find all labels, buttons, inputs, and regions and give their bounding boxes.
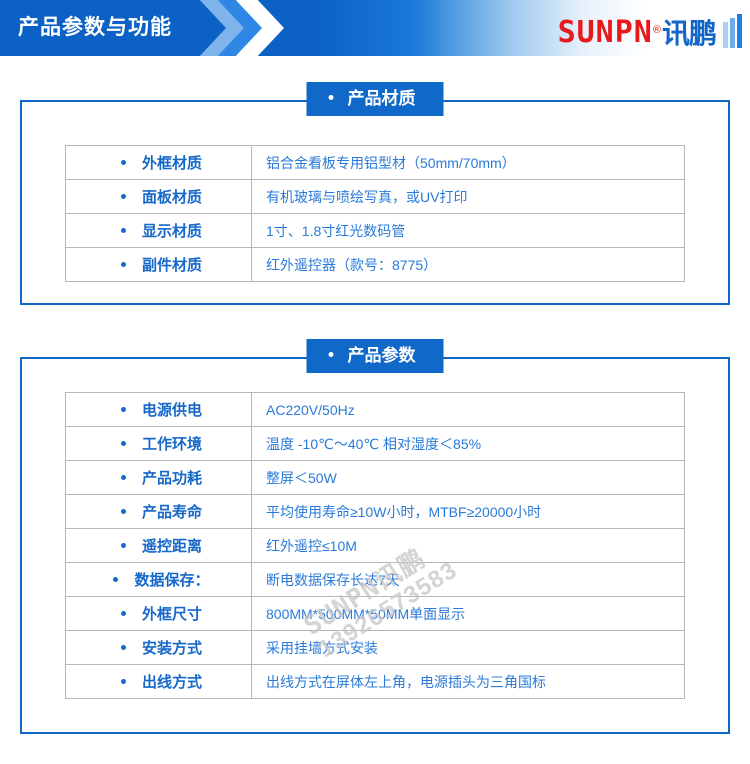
bullet-dot-icon <box>121 645 126 650</box>
spec-label-cell: 出线方式 <box>66 665 252 699</box>
section-badge-material: 产品材质 <box>307 82 444 116</box>
section-badge-material-label: 产品材质 <box>348 89 416 108</box>
chevron-right-icon <box>196 0 326 56</box>
table-row: 显示材质 1寸、1.8寸红光数码管 <box>66 214 685 248</box>
spec-label-cell: 面板材质 <box>66 180 252 214</box>
spec-table-parameters: 电源供电 AC220V/50Hz 工作环境 温度 -10℃～40℃ 相对湿度＜8… <box>65 392 685 699</box>
spec-label-cell: 电源供电 <box>66 393 252 427</box>
spec-value-cell: 整屏＜50W <box>252 461 685 495</box>
table-row: 工作环境 温度 -10℃～40℃ 相对湿度＜85% <box>66 427 685 461</box>
bullet-dot-icon <box>121 475 126 480</box>
table-row: 出线方式 出线方式在屏体左上角，电源插头为三角国标 <box>66 665 685 699</box>
table-row: 面板材质 有机玻璃与喷绘写真，或UV打印 <box>66 180 685 214</box>
table-row: 数据保存： 断电数据保存长达7天 <box>66 563 685 597</box>
table-row: 电源供电 AC220V/50Hz <box>66 393 685 427</box>
table-row: 产品寿命 平均使用寿命≥10W小时，MTBF≥20000小时 <box>66 495 685 529</box>
page-header: 产品参数与功能 SUNPN ® 讯鹏 <box>0 0 750 56</box>
bullet-dot-icon <box>121 228 126 233</box>
bullet-dot-icon <box>121 441 126 446</box>
spec-label-text: 外框材质 <box>142 155 202 172</box>
bullet-dot-icon <box>121 160 126 165</box>
table-row: 外框尺寸 800MM*500MM*50MM单面显示 <box>66 597 685 631</box>
spec-label-text: 产品寿命 <box>142 504 202 521</box>
page-title: 产品参数与功能 <box>18 11 172 41</box>
spec-label-cell: 数据保存： <box>66 563 252 597</box>
bullet-dot-icon <box>329 352 334 357</box>
spec-label-text: 面板材质 <box>142 189 202 206</box>
section-badge-parameters-label: 产品参数 <box>348 346 416 365</box>
spec-label-cell: 工作环境 <box>66 427 252 461</box>
table-row: 安装方式 采用挂墙方式安装 <box>66 631 685 665</box>
spec-label-text: 产品功耗 <box>142 470 202 487</box>
logo-bars-icon <box>721 14 742 48</box>
spec-label-text: 数据保存： <box>134 572 209 589</box>
brand-logo: SUNPN ® 讯鹏 <box>558 8 742 48</box>
spec-value-cell: 铝合金看板专用铝型材（50mm/70mm） <box>252 146 685 180</box>
bullet-dot-icon <box>121 509 126 514</box>
spec-value-cell: 平均使用寿命≥10W小时，MTBF≥20000小时 <box>252 495 685 529</box>
spec-value-cell: 采用挂墙方式安装 <box>252 631 685 665</box>
section-badge-parameters: 产品参数 <box>307 339 444 373</box>
spec-label-text: 出线方式 <box>142 674 202 691</box>
spec-value-cell: AC220V/50Hz <box>252 393 685 427</box>
spec-label-text: 工作环境 <box>142 436 202 453</box>
spec-value-cell: 红外遥控≤10M <box>252 529 685 563</box>
spec-label-cell: 安装方式 <box>66 631 252 665</box>
bullet-dot-icon <box>121 611 126 616</box>
spec-value-cell: 红外遥控器（款号：8775） <box>252 248 685 282</box>
table-row: 外框材质 铝合金看板专用铝型材（50mm/70mm） <box>66 146 685 180</box>
spec-value-cell: 800MM*500MM*50MM单面显示 <box>252 597 685 631</box>
spec-value-cell: 温度 -10℃～40℃ 相对湿度＜85% <box>252 427 685 461</box>
logo-chinese-text: 讯鹏 <box>662 20 716 48</box>
spec-label-text: 安装方式 <box>142 640 202 657</box>
spec-label-cell: 外框尺寸 <box>66 597 252 631</box>
spec-label-text: 外框尺寸 <box>142 606 202 623</box>
bullet-dot-icon <box>113 577 118 582</box>
chevron-decoration <box>196 0 326 56</box>
spec-value-cell: 有机玻璃与喷绘写真，或UV打印 <box>252 180 685 214</box>
registered-trademark-icon: ® <box>653 24 661 36</box>
bullet-dot-icon <box>121 543 126 548</box>
bullet-dot-icon <box>121 679 126 684</box>
spec-label-cell: 显示材质 <box>66 214 252 248</box>
spec-value-cell: 出线方式在屏体左上角，电源插头为三角国标 <box>252 665 685 699</box>
bullet-dot-icon <box>121 262 126 267</box>
logo-latin-text: SUNPN <box>558 18 653 48</box>
spec-label-text: 显示材质 <box>142 223 202 240</box>
spec-label-cell: 副件材质 <box>66 248 252 282</box>
spec-label-cell: 产品功耗 <box>66 461 252 495</box>
table-row: 产品功耗 整屏＜50W <box>66 461 685 495</box>
spec-value-cell: 断电数据保存长达7天 <box>252 563 685 597</box>
table-row: 遥控距离 红外遥控≤10M <box>66 529 685 563</box>
spec-value-cell: 1寸、1.8寸红光数码管 <box>252 214 685 248</box>
bullet-dot-icon <box>121 194 126 199</box>
spec-label-text: 副件材质 <box>142 257 202 274</box>
spec-label-cell: 外框材质 <box>66 146 252 180</box>
bullet-dot-icon <box>329 95 334 100</box>
bullet-dot-icon <box>121 407 126 412</box>
spec-label-text: 电源供电 <box>142 402 202 419</box>
spec-label-cell: 遥控距离 <box>66 529 252 563</box>
spec-label-text: 遥控距离 <box>142 538 202 555</box>
spec-table-material: 外框材质 铝合金看板专用铝型材（50mm/70mm） 面板材质 有机玻璃与喷绘写… <box>65 145 685 282</box>
spec-label-cell: 产品寿命 <box>66 495 252 529</box>
table-row: 副件材质 红外遥控器（款号：8775） <box>66 248 685 282</box>
